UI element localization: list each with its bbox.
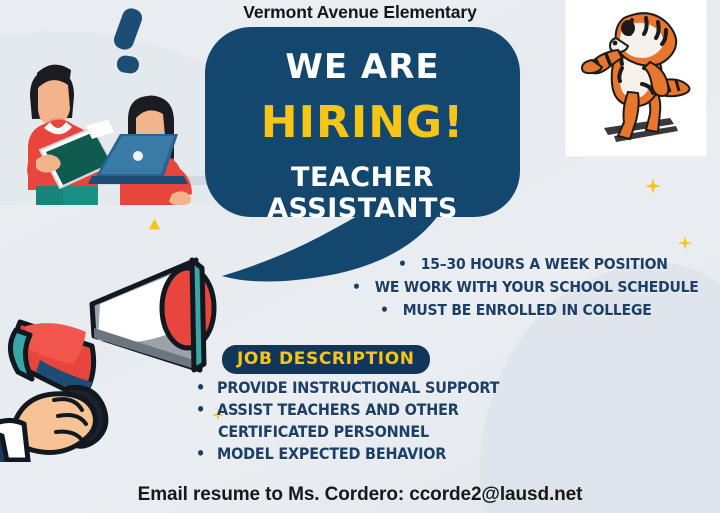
duty-text: ASSIST TEACHERS AND OTHER xyxy=(217,400,459,419)
sparkle-icon xyxy=(678,236,692,250)
requirement-item: •MUST BE ENROLLED IN COLLEGE xyxy=(330,301,710,319)
duty-item-continuation: CERTIFICATED PERSONNEL xyxy=(196,422,616,441)
sparkle-icon xyxy=(645,178,661,194)
sparkle-icon xyxy=(148,218,161,231)
requirements-list: •15–30 HOURS A WEEK POSITION •WE WORK WI… xyxy=(330,255,710,324)
duty-item: •MODEL EXPECTED BEHAVIOR xyxy=(196,444,616,463)
duty-item: •ASSIST TEACHERS AND OTHER xyxy=(196,400,616,419)
requirement-text: MUST BE ENROLLED IN COLLEGE xyxy=(403,301,652,319)
requirement-text: WE WORK WITH YOUR SCHOOL SCHEDULE xyxy=(375,278,699,296)
job-description-badge: JOB DESCRIPTION xyxy=(222,345,430,374)
bullet-icon: • xyxy=(398,255,407,273)
duty-text: MODEL EXPECTED BEHAVIOR xyxy=(217,444,446,463)
duty-text: PROVIDE INSTRUCTIONAL SUPPORT xyxy=(217,378,499,397)
tiger-mascot-card xyxy=(566,0,706,156)
requirement-item: •15–30 HOURS A WEEK POSITION xyxy=(330,255,710,273)
bullet-icon: • xyxy=(196,444,205,463)
bullet-icon: • xyxy=(196,378,205,397)
duty-item: •PROVIDE INSTRUCTIONAL SUPPORT xyxy=(196,378,616,397)
bullet-icon: • xyxy=(380,301,389,319)
requirement-item: •WE WORK WITH YOUR SCHOOL SCHEDULE xyxy=(330,278,710,296)
duties-list: •PROVIDE INSTRUCTIONAL SUPPORT •ASSIST T… xyxy=(196,378,616,466)
hiring-flyer: WE ARE HIRING! TEACHER ASSISTANTS Vermon… xyxy=(0,0,720,513)
contact-email-line: Email resume to Ms. Cordero: ccorde2@lau… xyxy=(0,484,720,506)
requirement-text: 15–30 HOURS A WEEK POSITION xyxy=(421,255,668,273)
headline-teacher-assistants: TEACHER ASSISTANTS xyxy=(205,162,520,224)
students-teacher-illustration xyxy=(0,0,215,205)
bullet-icon: • xyxy=(352,278,361,296)
headline-we-are: WE ARE xyxy=(205,47,520,87)
bullet-icon: • xyxy=(196,400,205,419)
headline-hiring: HIRING! xyxy=(205,97,520,148)
hiring-speech-bubble: WE ARE HIRING! TEACHER ASSISTANTS xyxy=(205,27,520,217)
